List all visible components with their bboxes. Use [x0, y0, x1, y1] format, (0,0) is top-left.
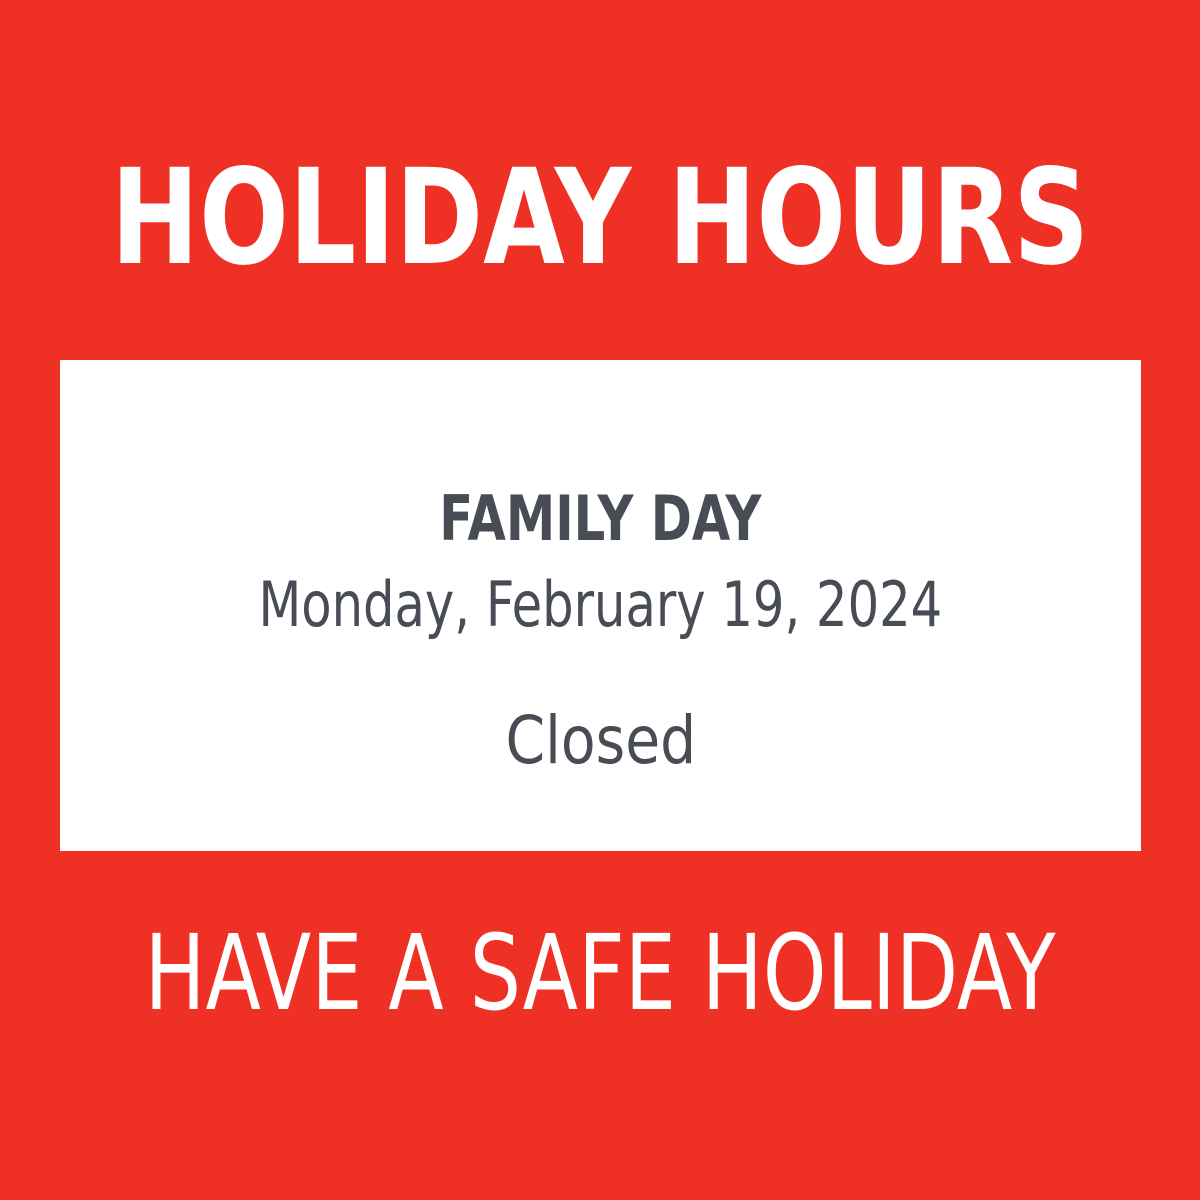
- holiday-info-card: FAMILY DAY Monday, February 19, 2024 Clo…: [60, 360, 1141, 851]
- holiday-hours-poster: HOLIDAY HOURS FAMILY DAY Monday, Februar…: [0, 0, 1200, 1200]
- page-title: HOLIDAY HOURS: [120, 150, 1080, 285]
- event-date: Monday, February 19, 2024: [259, 574, 943, 636]
- event-name: FAMILY DAY: [439, 488, 761, 550]
- footer-message: HAVE A SAFE HOLIDAY: [132, 918, 1068, 1028]
- status-badge: Closed: [505, 708, 696, 774]
